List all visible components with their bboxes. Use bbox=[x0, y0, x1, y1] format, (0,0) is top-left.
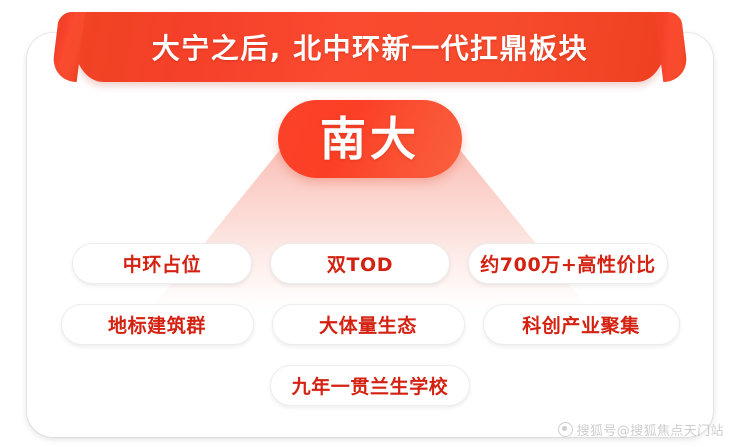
ribbon-body: 大宁之后, 北中环新一代扛鼎板块 bbox=[73, 12, 667, 82]
center-badge: 南大 bbox=[278, 100, 462, 178]
poster-root: 大宁之后, 北中环新一代扛鼎板块 南大 中环占位 双TOD 约700万+高性价比… bbox=[0, 0, 740, 447]
highlight-pill[interactable]: 科创产业聚集 bbox=[483, 304, 680, 345]
watermark: 搜狐号@搜狐焦点天门站 bbox=[558, 420, 724, 439]
highlight-pill[interactable]: 中环占位 bbox=[72, 243, 252, 284]
highlight-pill-label: 大体量生态 bbox=[319, 311, 417, 338]
highlight-pill[interactable]: 九年一贯兰生学校 bbox=[270, 365, 470, 406]
highlight-pill[interactable]: 地标建筑群 bbox=[61, 304, 254, 345]
highlight-pill[interactable]: 双TOD bbox=[270, 243, 450, 284]
highlight-row-2: 地标建筑群 大体量生态 科创产业聚集 bbox=[0, 304, 740, 345]
highlight-row-1: 中环占位 双TOD 约700万+高性价比 bbox=[0, 243, 740, 284]
banner-title: 大宁之后, 北中环新一代扛鼎板块 bbox=[152, 27, 588, 67]
highlight-pill-label: 九年一贯兰生学校 bbox=[292, 372, 449, 399]
highlight-pill-label: 地标建筑群 bbox=[108, 311, 206, 338]
sohu-circle-icon bbox=[558, 422, 573, 437]
highlight-pill-label: 中环占位 bbox=[123, 250, 201, 277]
watermark-label: 搜狐号@搜狐焦点天门站 bbox=[577, 420, 724, 439]
center-badge-label: 南大 bbox=[320, 116, 420, 162]
highlight-pill[interactable]: 约700万+高性价比 bbox=[468, 243, 668, 284]
highlight-pill-label: 双TOD bbox=[327, 250, 393, 277]
banner-ribbon: 大宁之后, 北中环新一代扛鼎板块 bbox=[0, 4, 740, 88]
highlight-pill-label: 约700万+高性价比 bbox=[480, 250, 656, 277]
highlight-pill[interactable]: 大体量生态 bbox=[272, 304, 465, 345]
highlight-pill-label: 科创产业聚集 bbox=[522, 311, 640, 338]
